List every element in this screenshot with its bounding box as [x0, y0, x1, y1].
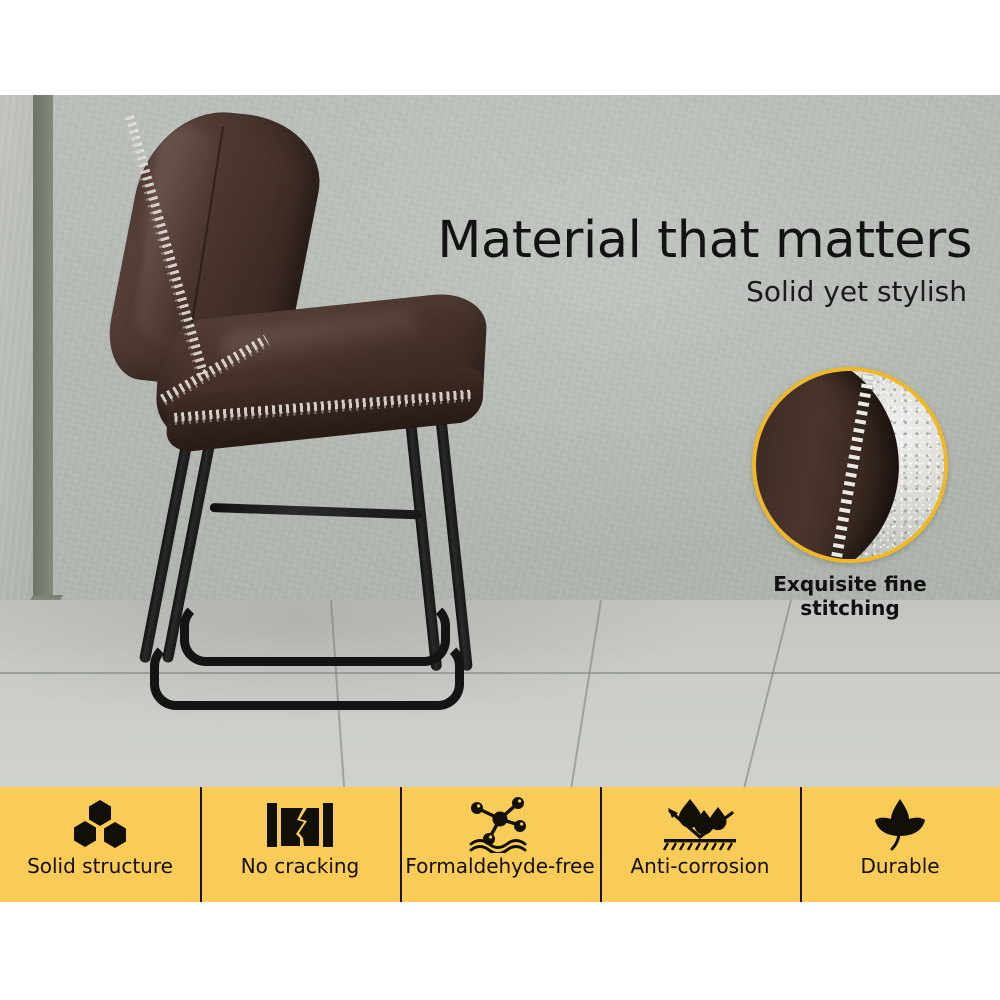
bar-stool: [100, 95, 520, 785]
page-subtitle: Solid yet stylish: [746, 275, 967, 308]
feature-label: Solid structure: [27, 854, 173, 878]
callout-circle: [752, 367, 948, 563]
feature-label: Anti-corrosion: [631, 854, 770, 878]
feature-formaldehyde-free[interactable]: Formaldehyde-free: [400, 787, 600, 902]
stool-base-runner-rear: [180, 600, 450, 666]
molecule-waves-icon: [457, 797, 543, 853]
water-repellent-surface-icon: [660, 797, 740, 853]
stool-footrest-bar: [210, 503, 422, 519]
callout-label-line-1: Exquisite fine: [736, 573, 964, 597]
product-photo-scene: Material that matters Solid yet stylish …: [0, 95, 1000, 787]
feature-bar: Solid structure No cracking: [0, 787, 1000, 902]
hexagon-cluster-icon: [70, 797, 130, 853]
bottom-white-border: [0, 902, 1000, 1000]
page-title: Material that matters: [437, 211, 972, 270]
feature-label: Durable: [860, 854, 939, 878]
feature-label: No cracking: [241, 854, 360, 878]
feature-label: Formaldehyde-free: [405, 854, 594, 878]
feature-anti-corrosion[interactable]: Anti-corrosion: [600, 787, 800, 902]
product-marketing-image: Material that matters Solid yet stylish …: [0, 0, 1000, 1000]
left-wall-face: [0, 95, 33, 607]
feature-solid-structure[interactable]: Solid structure: [0, 787, 200, 902]
callout-label-line-2: stitching: [736, 597, 964, 621]
top-white-border: [0, 0, 1000, 95]
feature-durable[interactable]: Durable: [800, 787, 1000, 902]
left-wall-edge: [33, 95, 53, 611]
feature-no-cracking[interactable]: No cracking: [200, 787, 400, 902]
callout-label: Exquisite fine stitching: [736, 573, 964, 620]
leaf-icon: [871, 797, 929, 853]
cracked-slab-icon: [267, 797, 333, 853]
stitching-callout: Exquisite fine stitching: [752, 367, 948, 563]
